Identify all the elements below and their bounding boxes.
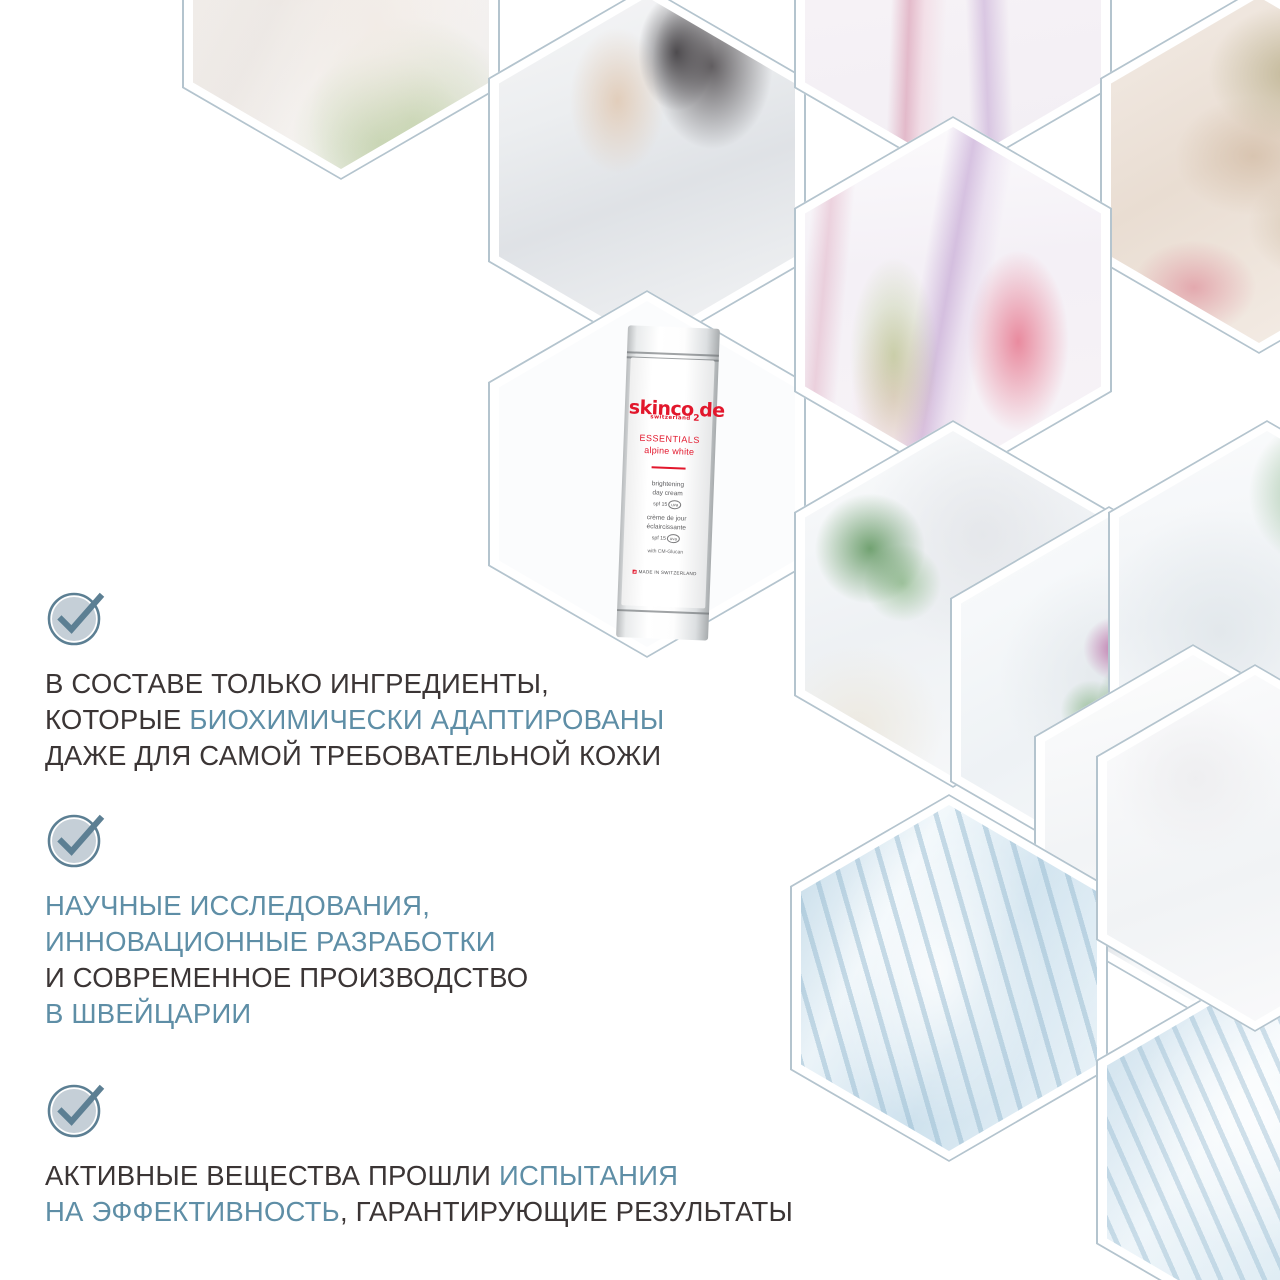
benefit-line: ДАЖЕ ДЛЯ САМОЙ ТРЕБОВАТЕЛЬНОЙ КОЖИ xyxy=(45,738,664,774)
benefit-text-2: НАУЧНЫЕ ИССЛЕДОВАНИЯ,ИННОВАЦИОННЫЕ РАЗРА… xyxy=(45,888,528,1032)
highlighted-phrase: НА ЭФФЕКТИВНОСТЬ xyxy=(45,1196,340,1227)
plain-phrase: КОТОРЫЕ xyxy=(45,704,189,735)
benefit-line: НА ЭФФЕКТИВНОСТЬ, ГАРАНТИРУЮЩИЕ РЕЗУЛЬТА… xyxy=(45,1194,793,1230)
check-circle-icon xyxy=(45,1078,107,1140)
benefit-text-1: В СОСТАВЕ ТОЛЬКО ИНГРЕДИЕНТЫ,КОТОРЫЕ БИО… xyxy=(45,666,664,774)
benefit-line: В ШВЕЙЦАРИИ xyxy=(45,996,528,1032)
highlighted-phrase: НАУЧНЫЕ ИССЛЕДОВАНИЯ, xyxy=(45,890,430,921)
check-circle-icon xyxy=(45,586,107,648)
highlighted-phrase: В ШВЕЙЦАРИИ xyxy=(45,998,251,1029)
benefits-list: В СОСТАВЕ ТОЛЬКО ИНГРЕДИЕНТЫ,КОТОРЫЕ БИО… xyxy=(0,0,1280,1280)
plain-phrase: В СОСТАВЕ ТОЛЬКО ИНГРЕДИЕНТЫ, xyxy=(45,668,549,699)
plain-phrase: АКТИВНЫЕ ВЕЩЕСТВА ПРОШЛИ xyxy=(45,1160,499,1191)
plain-phrase: ДАЖЕ ДЛЯ САМОЙ ТРЕБОВАТЕЛЬНОЙ КОЖИ xyxy=(45,740,661,771)
check-circle-icon xyxy=(45,808,107,870)
benefit-line: В СОСТАВЕ ТОЛЬКО ИНГРЕДИЕНТЫ, xyxy=(45,666,664,702)
benefit-line: АКТИВНЫЕ ВЕЩЕСТВА ПРОШЛИ ИСПЫТАНИЯ xyxy=(45,1158,793,1194)
benefit-text-3: АКТИВНЫЕ ВЕЩЕСТВА ПРОШЛИ ИСПЫТАНИЯНА ЭФФ… xyxy=(45,1158,793,1230)
benefit-line: КОТОРЫЕ БИОХИМИЧЕСКИ АДАПТИРОВАНЫ xyxy=(45,702,664,738)
benefit-line: НАУЧНЫЕ ИССЛЕДОВАНИЯ, xyxy=(45,888,528,924)
plain-phrase: И СОВРЕМЕННОЕ ПРОИЗВОДСТВО xyxy=(45,962,528,993)
check-circle-icon xyxy=(45,586,107,648)
check-circle-icon xyxy=(45,1078,107,1140)
highlighted-phrase: ИСПЫТАНИЯ xyxy=(499,1160,678,1191)
benefit-line: И СОВРЕМЕННОЕ ПРОИЗВОДСТВО xyxy=(45,960,528,996)
benefit-line: ИННОВАЦИОННЫЕ РАЗРАБОТКИ xyxy=(45,924,528,960)
benefit-item-2: НАУЧНЫЕ ИССЛЕДОВАНИЯ,ИННОВАЦИОННЫЕ РАЗРА… xyxy=(45,808,528,1032)
check-circle-icon xyxy=(45,808,107,870)
benefit-item-3: АКТИВНЫЕ ВЕЩЕСТВА ПРОШЛИ ИСПЫТАНИЯНА ЭФФ… xyxy=(45,1078,793,1230)
benefit-item-1: В СОСТАВЕ ТОЛЬКО ИНГРЕДИЕНТЫ,КОТОРЫЕ БИО… xyxy=(45,586,664,774)
poster-canvas: skinco2de switzerland ESSENTIALS alpine … xyxy=(0,0,1280,1280)
highlighted-phrase: ИННОВАЦИОННЫЕ РАЗРАБОТКИ xyxy=(45,926,496,957)
plain-phrase: , ГАРАНТИРУЮЩИЕ РЕЗУЛЬТАТЫ xyxy=(340,1196,793,1227)
highlighted-phrase: БИОХИМИЧЕСКИ АДАПТИРОВАНЫ xyxy=(189,704,664,735)
